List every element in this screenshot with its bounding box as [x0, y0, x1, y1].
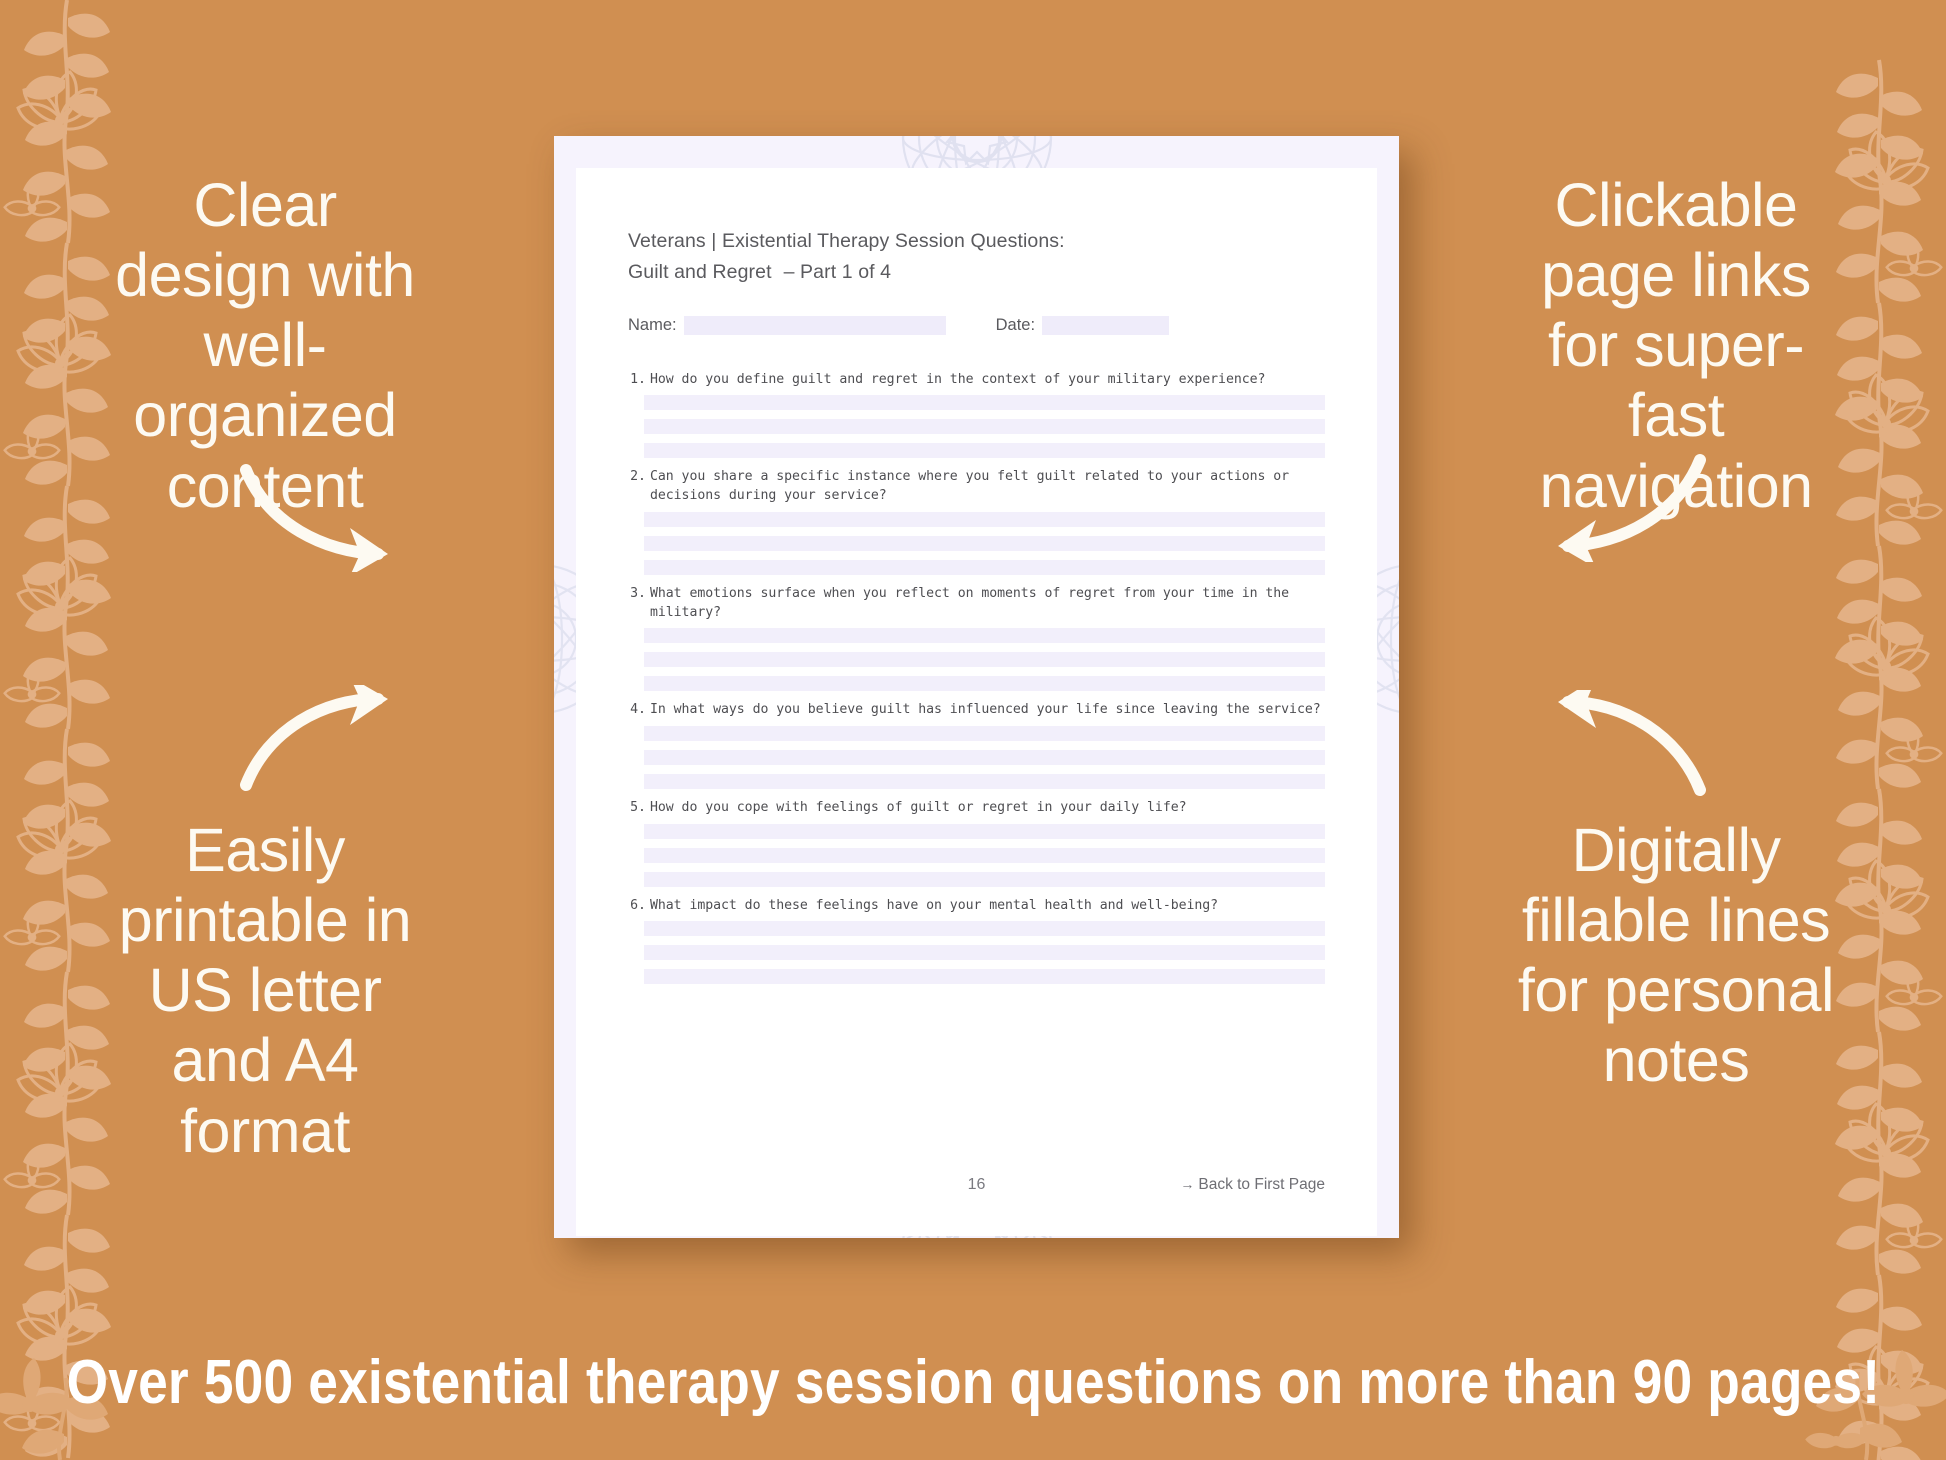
question-block: 5.How do you cope with feelings of guilt…	[628, 799, 1325, 887]
answer-lines	[628, 921, 1325, 984]
answer-line[interactable]	[644, 945, 1325, 960]
arrow-right-icon: →	[1180, 1176, 1194, 1192]
name-group: Name:	[628, 316, 946, 335]
answer-line[interactable]	[644, 726, 1325, 741]
answer-line[interactable]	[644, 676, 1325, 691]
promo-text-clickable-links: Clickable page links for super-fast navi…	[1506, 170, 1846, 521]
worksheet-title: Veterans | Existential Therapy Session Q…	[628, 226, 1325, 257]
answer-line[interactable]	[644, 536, 1325, 551]
worksheet-content: Veterans | Existential Therapy Session Q…	[576, 168, 1377, 1236]
banner-headline: Over 500 existential therapy session que…	[66, 1347, 1880, 1418]
answer-line[interactable]	[644, 395, 1325, 410]
question-block: 2.Can you share a specific instance wher…	[628, 468, 1325, 574]
curved-arrow-right-up-icon	[238, 685, 408, 795]
answer-lines	[628, 512, 1325, 575]
bottom-banner: Over 500 existential therapy session que…	[0, 1304, 1946, 1460]
question-row: 4.In what ways do you believe guilt has …	[628, 701, 1325, 720]
question-number: 3.	[628, 585, 650, 622]
question-block: 4.In what ways do you believe guilt has …	[628, 701, 1325, 789]
question-row: 1.How do you define guilt and regret in …	[628, 371, 1325, 390]
answer-line[interactable]	[644, 419, 1325, 434]
question-row: 6.What impact do these feelings have on …	[628, 897, 1325, 916]
worksheet-topic: Guilt and Regret	[628, 261, 772, 283]
name-date-row: Name: Date:	[628, 316, 1325, 335]
question-number: 1.	[628, 371, 650, 390]
question-text: Can you share a specific instance where …	[650, 468, 1325, 505]
promo-text-fillable-lines: Digitally fillable lines for personal no…	[1506, 815, 1846, 1096]
answer-line[interactable]	[644, 848, 1325, 863]
name-label: Name:	[628, 316, 677, 335]
answer-line[interactable]	[644, 652, 1325, 667]
date-input[interactable]	[1042, 316, 1169, 335]
question-row: 2.Can you share a specific instance wher…	[628, 468, 1325, 505]
answer-line[interactable]	[644, 872, 1325, 887]
date-label: Date:	[996, 316, 1035, 335]
answer-line[interactable]	[644, 750, 1325, 765]
answer-line[interactable]	[644, 969, 1325, 984]
curved-arrow-left-up-icon	[1538, 690, 1708, 800]
answer-line[interactable]	[644, 774, 1325, 789]
answer-lines	[628, 628, 1325, 691]
worksheet-part: – Part 1 of 4	[784, 261, 892, 283]
promo-text-printable: Easily printable in US letter and A4 for…	[100, 815, 430, 1166]
promo-text-clear-design: Clear design with well-organized content	[100, 170, 430, 521]
question-text: What impact do these feelings have on yo…	[650, 897, 1325, 916]
answer-line[interactable]	[644, 560, 1325, 575]
answer-lines	[628, 824, 1325, 887]
answer-lines	[628, 395, 1325, 458]
worksheet-page[interactable]: Veterans | Existential Therapy Session Q…	[554, 136, 1399, 1238]
page-number: 16	[968, 1176, 986, 1194]
page-footer: 16 →Back to First Page	[628, 1176, 1325, 1194]
back-to-first-page-link[interactable]: →Back to First Page	[1180, 1176, 1325, 1194]
answer-line[interactable]	[644, 443, 1325, 458]
question-number: 4.	[628, 701, 650, 720]
question-block: 1.How do you define guilt and regret in …	[628, 371, 1325, 459]
date-group: Date:	[996, 316, 1169, 335]
question-text: What emotions surface when you reflect o…	[650, 585, 1325, 622]
answer-line[interactable]	[644, 824, 1325, 839]
question-row: 3.What emotions surface when you reflect…	[628, 585, 1325, 622]
question-text: In what ways do you believe guilt has in…	[650, 701, 1325, 720]
question-block: 3.What emotions surface when you reflect…	[628, 585, 1325, 691]
name-input[interactable]	[684, 316, 946, 335]
question-number: 6.	[628, 897, 650, 916]
worksheet-subtitle: Guilt and Regret– Part 1 of 4	[628, 257, 1325, 288]
question-number: 2.	[628, 468, 650, 505]
question-text: How do you define guilt and regret in th…	[650, 371, 1325, 390]
question-number: 5.	[628, 799, 650, 818]
question-row: 5.How do you cope with feelings of guilt…	[628, 799, 1325, 818]
question-block: 6.What impact do these feelings have on …	[628, 897, 1325, 985]
answer-line[interactable]	[644, 921, 1325, 936]
answer-lines	[628, 726, 1325, 789]
back-to-first-page-label: Back to First Page	[1198, 1176, 1325, 1193]
answer-line[interactable]	[644, 628, 1325, 643]
questions-list: 1.How do you define guilt and regret in …	[628, 371, 1325, 985]
question-text: How do you cope with feelings of guilt o…	[650, 799, 1325, 818]
answer-line[interactable]	[644, 512, 1325, 527]
